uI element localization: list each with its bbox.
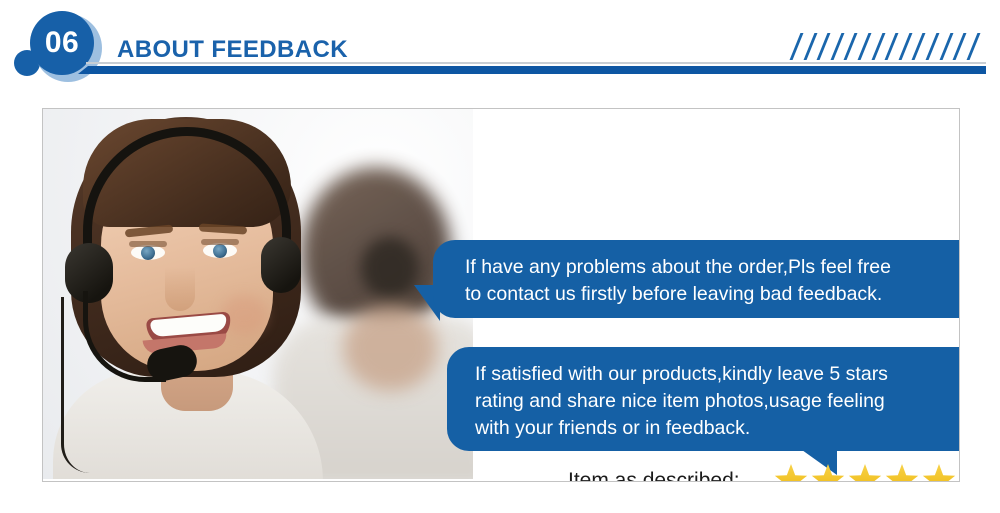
feedback-card: If have any problems about the order,Pls… bbox=[42, 108, 960, 482]
bubble-order-problem-line-2: to contact us firstly before leaving bad… bbox=[465, 281, 960, 308]
bubble-satisfied: If satisfied with our products,kindly le… bbox=[447, 347, 960, 451]
star-icon bbox=[884, 463, 920, 482]
hatch-stripe bbox=[912, 33, 926, 60]
hatch-stripe bbox=[844, 33, 858, 60]
page-title: ABOUT FEEDBACK bbox=[117, 36, 348, 64]
hatch-stripe bbox=[803, 33, 817, 60]
hatch-stripe bbox=[898, 33, 912, 60]
customer-service-agent-photo bbox=[43, 109, 473, 479]
hatch-stripe bbox=[953, 33, 967, 60]
bubble-satisfied-line-1: If satisfied with our products,kindly le… bbox=[475, 361, 960, 388]
diagonal-hatch-decoration bbox=[795, 33, 987, 60]
header-blue-bar bbox=[78, 66, 986, 74]
page-header: 06 ABOUT FEEDBACK bbox=[0, 0, 1000, 95]
ratings-list: Item as described: Communication: Shippi… bbox=[568, 459, 957, 482]
hatch-stripe bbox=[858, 33, 872, 60]
hatch-stripe bbox=[871, 33, 885, 60]
bubble-satisfied-line-2: rating and share nice item photos,usage … bbox=[475, 388, 960, 415]
background-agent-earcup bbox=[361, 237, 419, 299]
star-icon bbox=[810, 463, 846, 482]
rating-row-item-as-described: Item as described: bbox=[568, 459, 957, 482]
section-number-badge: 06 bbox=[30, 11, 94, 75]
hatch-stripe bbox=[885, 33, 899, 60]
star-icon bbox=[847, 463, 883, 482]
hatch-stripe bbox=[817, 33, 831, 60]
bubble-order-problem: If have any problems about the order,Pls… bbox=[433, 240, 960, 318]
star-icon bbox=[773, 463, 809, 482]
hatch-stripe bbox=[939, 33, 953, 60]
header-hairline-divider bbox=[86, 62, 986, 64]
headset-cable bbox=[61, 297, 90, 473]
hatch-stripe bbox=[830, 33, 844, 60]
hatch-stripe bbox=[966, 33, 980, 60]
rating-label-item-as-described: Item as described: bbox=[568, 469, 773, 482]
hatch-stripe bbox=[790, 33, 804, 60]
star-rating-item-as-described bbox=[773, 463, 957, 482]
hatch-stripe bbox=[926, 33, 940, 60]
bubble-order-problem-line-1: If have any problems about the order,Pls… bbox=[465, 254, 960, 281]
bubble-satisfied-line-3: with your friends or in feedback. bbox=[475, 415, 960, 442]
headset-earcup-right bbox=[261, 237, 301, 293]
star-icon bbox=[921, 463, 957, 482]
